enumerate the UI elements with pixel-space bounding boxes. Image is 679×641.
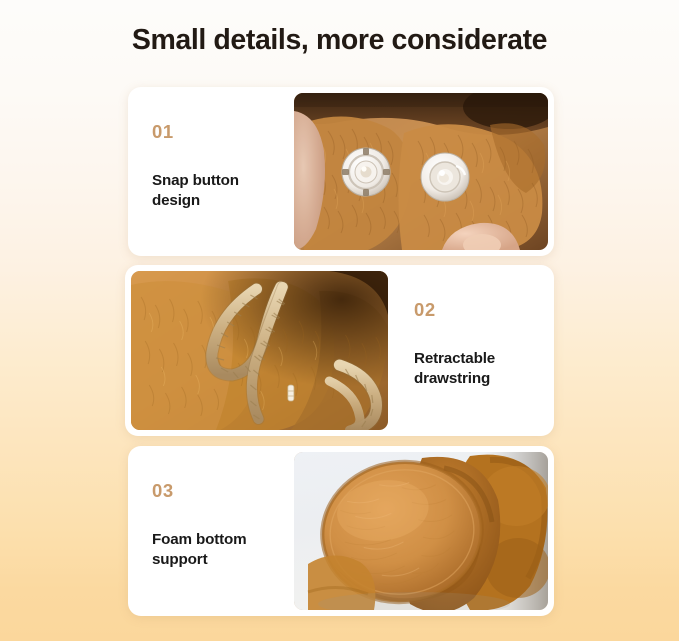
- feature-caption-02: Retractable drawstring: [414, 349, 544, 389]
- feature-caption-01: Snap button design: [152, 171, 282, 211]
- product-detail-page: Small details, more considerate 01 Snap …: [0, 0, 679, 641]
- feature-number-01: 01: [152, 123, 294, 142]
- feature-card-01[interactable]: 01 Snap button design: [128, 87, 554, 256]
- feature-number-03: 03: [152, 482, 294, 501]
- feature-card-03[interactable]: 03 Foam bottom support: [128, 446, 554, 616]
- feature-photo-foam-bottom: [294, 452, 548, 610]
- feature-number-02: 02: [414, 301, 554, 320]
- feature-photo-drawstring: [131, 271, 388, 430]
- feature-caption-03: Foam bottom support: [152, 530, 282, 570]
- feature-card-01-text: 01 Snap button design: [128, 87, 294, 256]
- feature-card-02-text: 02 Retractable drawstring: [388, 265, 554, 436]
- feature-photo-snap-button: [294, 93, 548, 250]
- feature-card-02[interactable]: 02 Retractable drawstring: [125, 265, 554, 436]
- feature-card-03-text: 03 Foam bottom support: [128, 446, 294, 616]
- page-title: Small details, more considerate: [0, 24, 679, 57]
